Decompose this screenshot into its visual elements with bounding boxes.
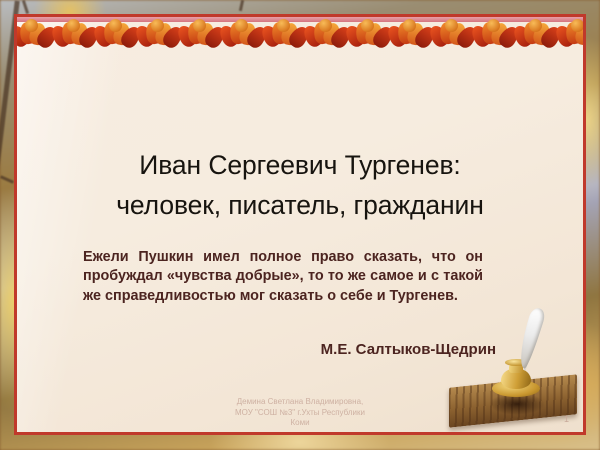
quote-attribution: М.Е. Салтыков-Щедрин	[83, 341, 496, 358]
leaf-cluster	[263, 19, 305, 53]
author-credit-line-1: Демина Светлана Владимировна,	[17, 397, 583, 408]
author-credit-line-2: МОУ "СОШ №3" г.Ухты Республики	[17, 408, 583, 419]
leaf-cluster	[179, 19, 221, 53]
leaf-cluster	[515, 19, 557, 53]
presentation-slide: Иван Сергеевич Тургенев: человек, писате…	[14, 14, 586, 435]
leaf-cluster	[53, 19, 95, 53]
leaf-cluster	[137, 19, 179, 53]
leaf-cluster	[305, 19, 347, 53]
leaf-cluster	[557, 19, 583, 53]
slide-title: Иван Сергеевич Тургенев: человек, писате…	[17, 145, 583, 225]
page-number: 1	[564, 414, 569, 424]
leaf-cluster	[221, 19, 263, 53]
leaf-cluster	[95, 19, 137, 53]
autumn-leaf-garland	[17, 17, 583, 57]
quote-text: Ежели Пушкин имел полное право сказать, …	[83, 248, 483, 306]
leaf-cluster	[347, 19, 389, 53]
author-credit: Демина Светлана Владимировна, МОУ "СОШ №…	[17, 397, 583, 429]
slide-title-line-2: человек, писатель, гражданин	[17, 185, 583, 225]
leaf-cluster	[389, 19, 431, 53]
leaf-cluster	[431, 19, 473, 53]
leaf-cluster	[473, 19, 515, 53]
author-credit-line-3: Коми	[17, 418, 583, 429]
leaf-cluster	[17, 19, 53, 53]
slide-title-line-1: Иван Сергеевич Тургенев:	[17, 145, 583, 185]
